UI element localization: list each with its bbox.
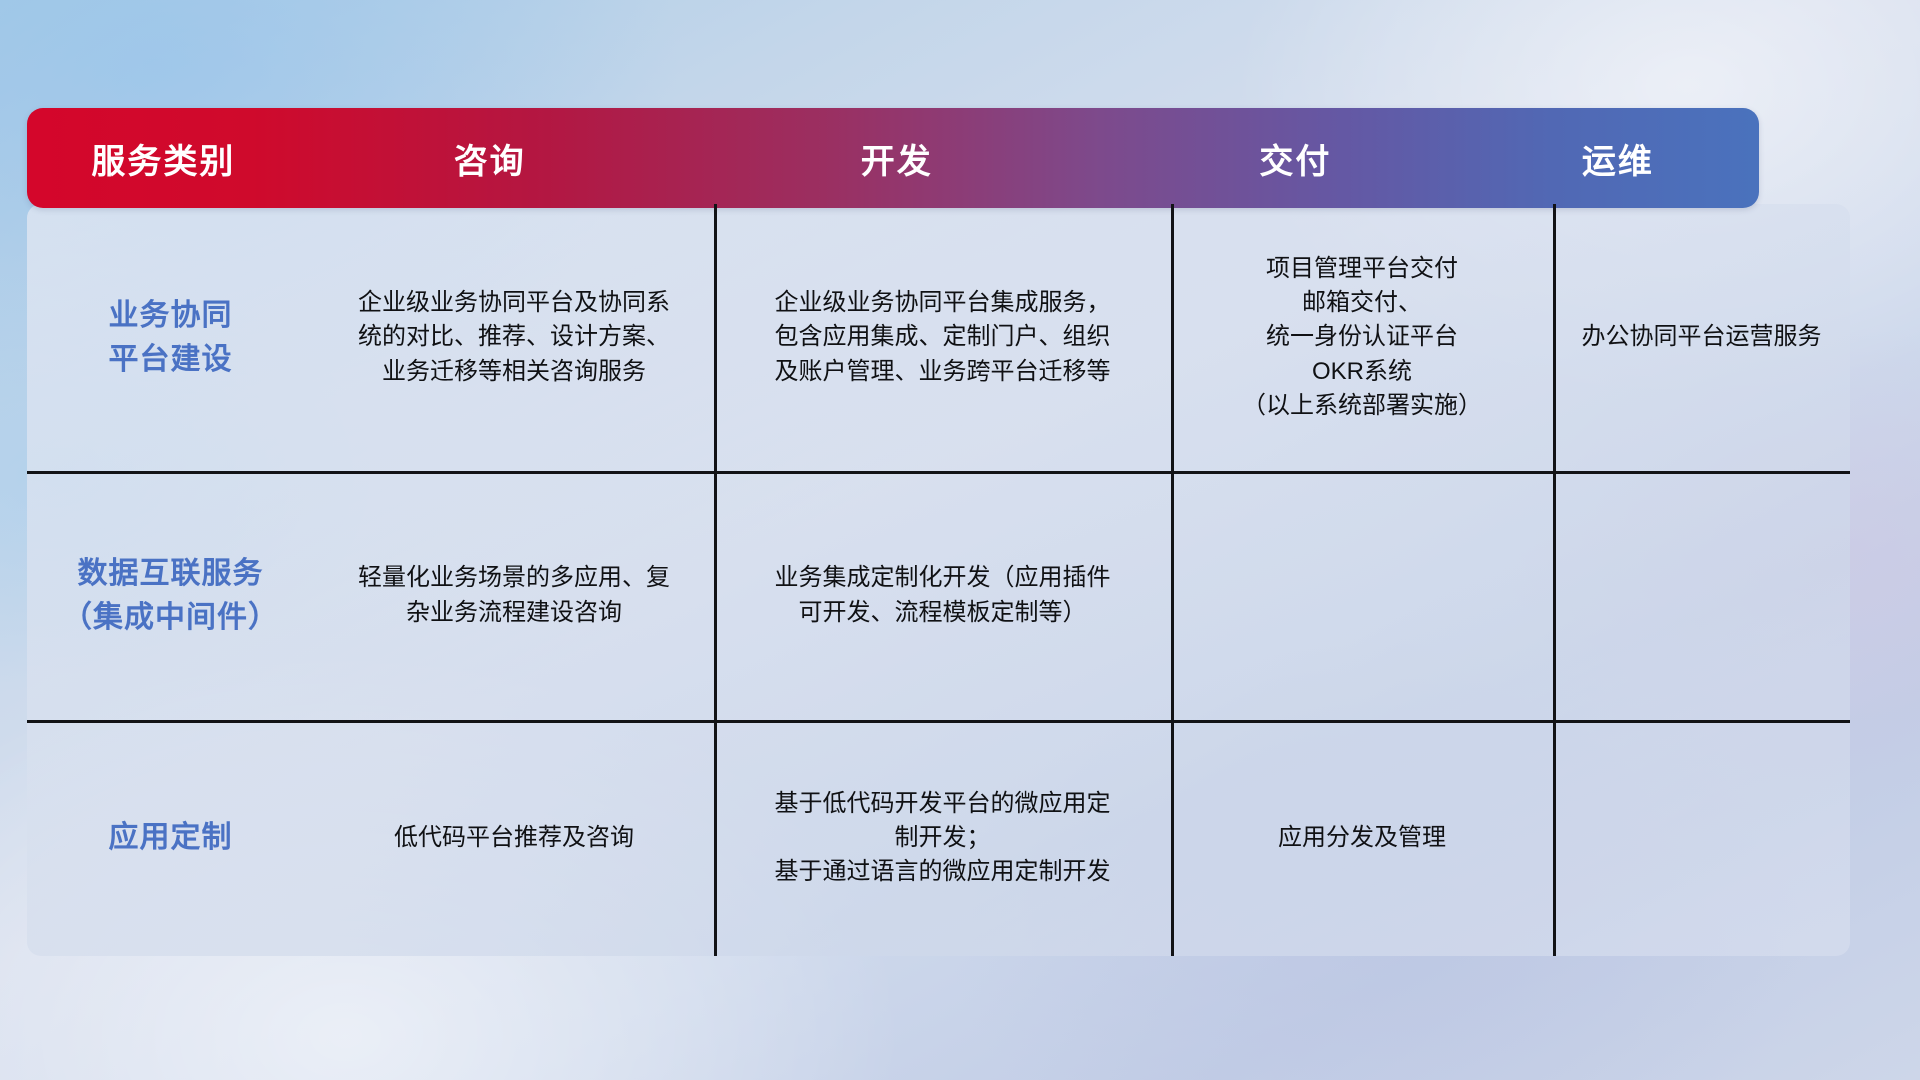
cell-operations-r3: [1553, 720, 1850, 956]
row-label-app-customization: 应用定制: [27, 720, 314, 956]
table-row: 业务协同 平台建设 企业级业务协同平台及协同系 统的对比、推荐、设计方案、 业务…: [27, 204, 1850, 471]
service-matrix-table: 服务类别 咨询 开发 交付 运维 业务协同 平台建设 企业级业务协同平台及协同系…: [27, 108, 1850, 956]
row-label-data-interconnect: 数据互联服务 （集成中间件）: [27, 471, 314, 720]
cell-development-r2: 业务集成定制化开发（应用插件 可开发、流程模板定制等）: [714, 471, 1171, 720]
table-header-row: 服务类别 咨询 开发 交付 运维: [27, 108, 1759, 208]
header-cell-consulting: 咨询: [300, 134, 680, 183]
cell-delivery-r1: 项目管理平台交付 邮箱交付、 统一身份认证平台 OKR系统 （以上系统部署实施）: [1171, 204, 1553, 471]
table-row: 数据互联服务 （集成中间件） 轻量化业务场景的多应用、复 杂业务流程建设咨询 业…: [27, 471, 1850, 720]
cell-consulting-r2: 轻量化业务场景的多应用、复 杂业务流程建设咨询: [314, 471, 714, 720]
table-row: 应用定制 低代码平台推荐及咨询 基于低代码开发平台的微应用定 制开发； 基于通过…: [27, 720, 1850, 956]
cell-consulting-r3: 低代码平台推荐及咨询: [314, 720, 714, 956]
cell-consulting-r1: 企业级业务协同平台及协同系 统的对比、推荐、设计方案、 业务迁移等相关咨询服务: [314, 204, 714, 471]
cell-delivery-r3: 应用分发及管理: [1171, 720, 1553, 956]
table-grid: 业务协同 平台建设 企业级业务协同平台及协同系 统的对比、推荐、设计方案、 业务…: [27, 204, 1850, 956]
header-cell-delivery: 交付: [1114, 134, 1477, 183]
header-cell-operations: 运维: [1477, 134, 1759, 183]
cell-operations-r1: 办公协同平台运营服务: [1553, 204, 1850, 471]
cell-development-r1: 企业级业务协同平台集成服务， 包含应用集成、定制门户、组织 及账户管理、业务跨平…: [714, 204, 1171, 471]
cell-development-r3: 基于低代码开发平台的微应用定 制开发； 基于通过语言的微应用定制开发: [714, 720, 1171, 956]
cell-delivery-r2: [1171, 471, 1553, 720]
header-cell-category: 服务类别: [27, 134, 300, 183]
row-label-business-collaboration: 业务协同 平台建设: [27, 204, 314, 471]
header-cell-development: 开发: [680, 134, 1114, 183]
cell-operations-r2: [1553, 471, 1850, 720]
